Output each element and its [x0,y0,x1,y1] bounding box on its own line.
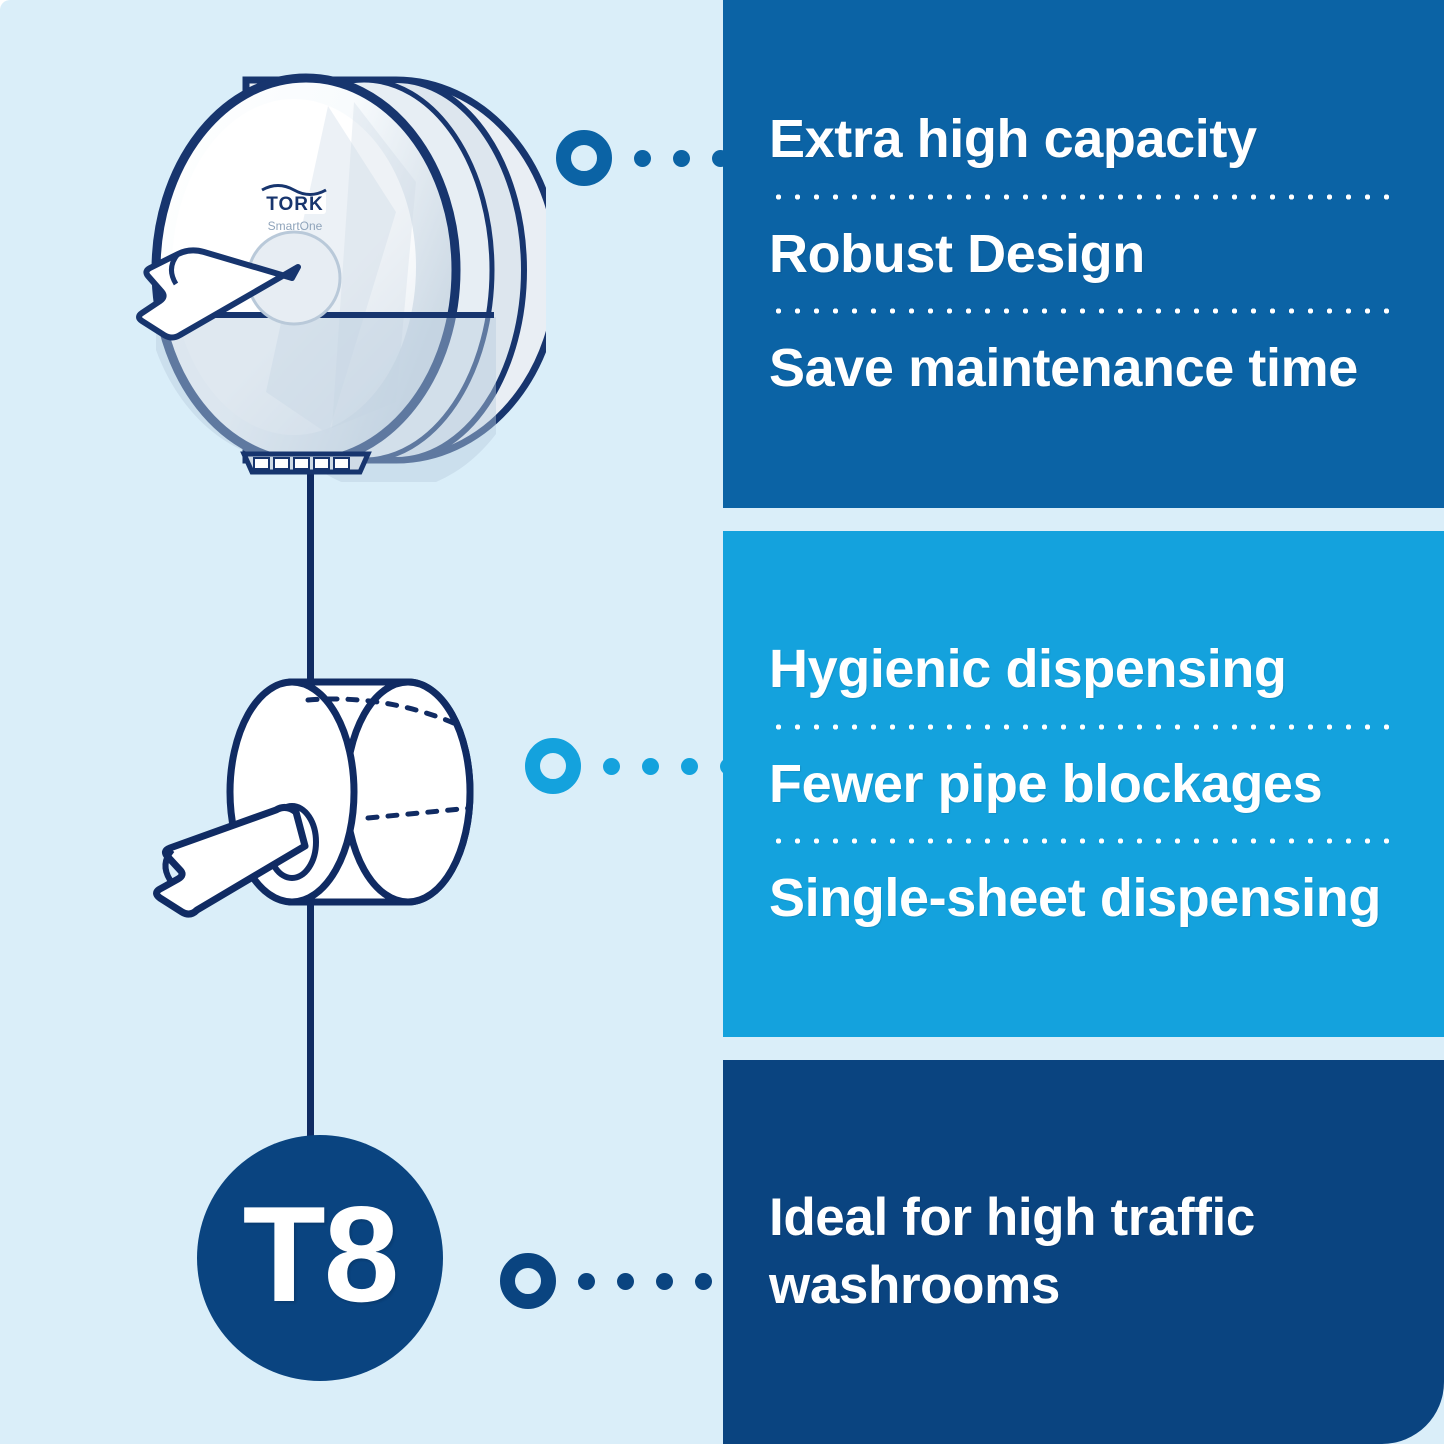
connector-dot [603,758,620,775]
feature-divider [769,193,1398,201]
toilet-roll-illustration [120,652,520,932]
feature-panel-traffic: Ideal for high traffic washrooms [723,1060,1444,1444]
connector-ring-icon [500,1253,556,1309]
connector-dot [673,150,690,167]
feature-panel-hygiene: Hygienic dispensing Fewer pipe blockages… [723,531,1444,1037]
feature-item-ideal-for-high-traffic-washrooms: Ideal for high traffic washrooms [769,1184,1398,1320]
connector-dot [695,1273,712,1290]
svg-text:TORK: TORK [266,194,323,215]
dispenser-illustration: TORK SmartOne [96,62,546,482]
feature-item-hygienic-dispensing: Hygienic dispensing [769,638,1398,701]
dispenser-grille [244,454,368,472]
connector-dot [642,758,659,775]
connector-dot [634,150,651,167]
feature-item-save-maintenance-time: Save maintenance time [769,337,1398,400]
feature-divider [769,837,1398,845]
feature-item-fewer-pipe-blockages: Fewer pipe blockages [769,753,1398,816]
connector-dot [617,1273,634,1290]
tork-logo-mark: TORK SmartOne [262,186,326,234]
feature-divider [769,723,1398,731]
connector-ring-icon [525,738,581,794]
connector-dot [578,1273,595,1290]
connector-dot [656,1273,673,1290]
feature-item-extra-high-capacity: Extra high capacity [769,108,1398,171]
feature-item-robust-design: Robust Design [769,223,1398,286]
feature-panel-high-capacity: Extra high capacity Robust Design Save m… [723,0,1444,508]
connector-dot [681,758,698,775]
infographic-root: TORK SmartOne [0,0,1444,1444]
feature-divider [769,307,1398,315]
connector-ring-icon [556,130,612,186]
t8-category-badge: T8 [197,1135,443,1381]
t8-badge-label: T8 [243,1186,398,1322]
feature-item-single-sheet-dispensing: Single-sheet dispensing [769,867,1398,930]
